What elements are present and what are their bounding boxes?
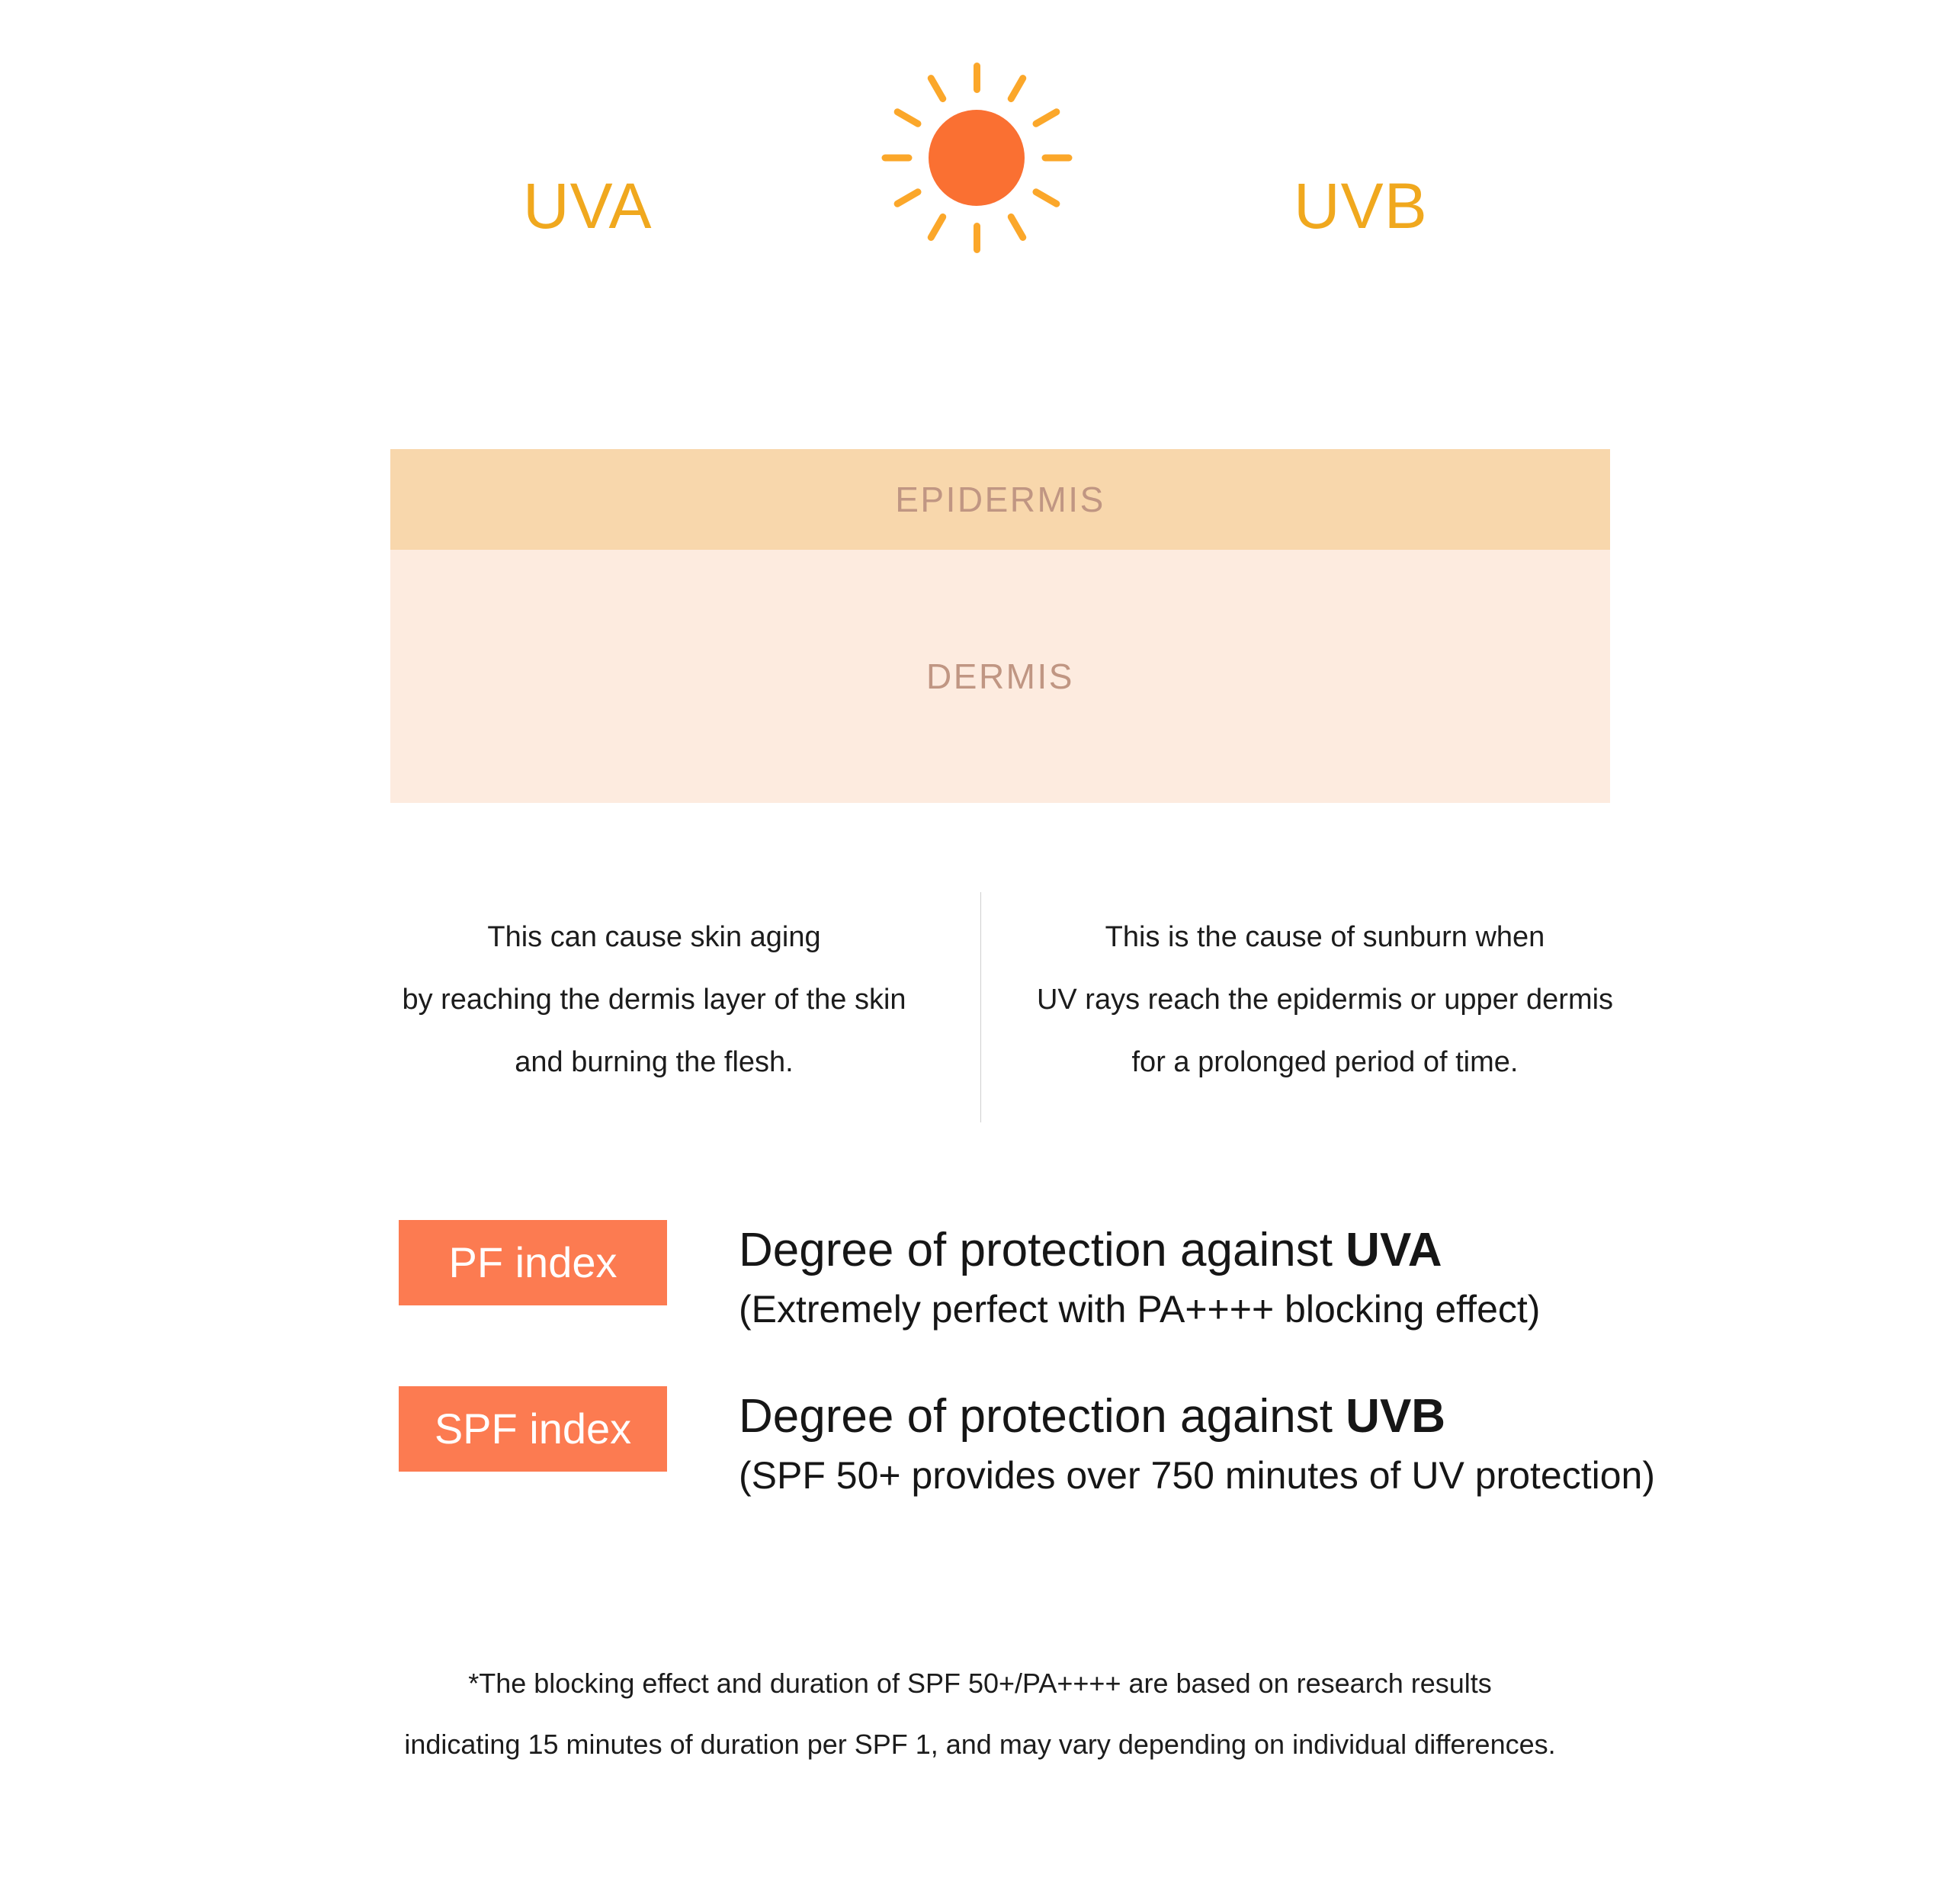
sun-ray	[1031, 188, 1060, 209]
spf-index-title-prefix: Degree of protection against	[739, 1390, 1346, 1443]
footnote-line-1: *The blocking effect and duration of SPF…	[0, 1653, 1960, 1714]
uva-description-line-1: This can cause skin aging	[342, 906, 967, 968]
description-row: This can cause skin aging by reaching th…	[342, 906, 1668, 1127]
epidermis-label: EPIDERMIS	[895, 482, 1105, 517]
spf-index-row: SPF index Degree of protection against U…	[399, 1386, 1771, 1502]
sun-ray	[892, 108, 922, 129]
pf-index-title-prefix: Degree of protection against	[739, 1224, 1346, 1276]
sun-ray	[1031, 108, 1060, 129]
sun-ray	[926, 73, 948, 103]
sun-core	[929, 110, 1025, 206]
uvb-description-line-1: This is the cause of sunburn when	[1012, 906, 1638, 968]
skin-layer-diagram: EPIDERMIS DERMIS	[390, 449, 1610, 803]
uvb-description-line-2: UV rays reach the epidermis or upper der…	[1012, 968, 1638, 1031]
uva-description-line-3: and burning the flesh.	[342, 1031, 967, 1093]
sun-ray	[1006, 212, 1028, 242]
uva-label: UVA	[523, 174, 652, 238]
uvb-description-line-3: for a prolonged period of time.	[1012, 1031, 1638, 1093]
sun-ray	[974, 63, 980, 93]
sun-ray	[881, 155, 912, 162]
sun-icon	[866, 47, 1087, 268]
spf-index-text: Degree of protection against UVB (SPF 50…	[739, 1386, 1655, 1502]
pf-index-row: PF index Degree of protection against UV…	[399, 1220, 1771, 1336]
epidermis-layer: EPIDERMIS	[390, 449, 1610, 550]
uva-description-line-2: by reaching the dermis layer of the skin	[342, 968, 967, 1031]
sun-ray	[1006, 73, 1028, 103]
infographic-page: UVA UVB EPIDERMIS DERMIS This	[0, 0, 1960, 1891]
pf-index-badge: PF index	[399, 1220, 667, 1305]
footnote: *The blocking effect and duration of SPF…	[0, 1653, 1960, 1775]
spf-index-title-strong: UVB	[1346, 1390, 1445, 1443]
footnote-line-2: indicating 15 minutes of duration per SP…	[0, 1714, 1960, 1775]
vertical-divider	[980, 892, 981, 1122]
sun-ray	[926, 212, 948, 242]
spf-index-subtitle: (SPF 50+ provides over 750 minutes of UV…	[739, 1449, 1655, 1502]
spf-index-title: Degree of protection against UVB	[739, 1388, 1655, 1446]
uvb-label: UVB	[1294, 174, 1428, 238]
spf-index-badge: SPF index	[399, 1386, 667, 1472]
pf-index-title-strong: UVA	[1346, 1224, 1442, 1276]
index-block: PF index Degree of protection against UV…	[399, 1220, 1771, 1552]
pf-index-text: Degree of protection against UVA (Extrem…	[739, 1220, 1540, 1336]
pf-index-subtitle: (Extremely perfect with PA++++ blocking …	[739, 1283, 1540, 1336]
dermis-label: DERMIS	[926, 659, 1074, 694]
uvb-description: This is the cause of sunburn when UV ray…	[1012, 906, 1638, 1093]
dermis-layer: DERMIS	[390, 550, 1610, 803]
sun-ray	[892, 188, 922, 209]
sun-ray	[1041, 155, 1072, 162]
uv-header: UVA UVB	[0, 0, 1960, 290]
uva-description: This can cause skin aging by reaching th…	[342, 906, 967, 1093]
sun-ray	[974, 223, 980, 253]
pf-index-title: Degree of protection against UVA	[739, 1222, 1540, 1279]
